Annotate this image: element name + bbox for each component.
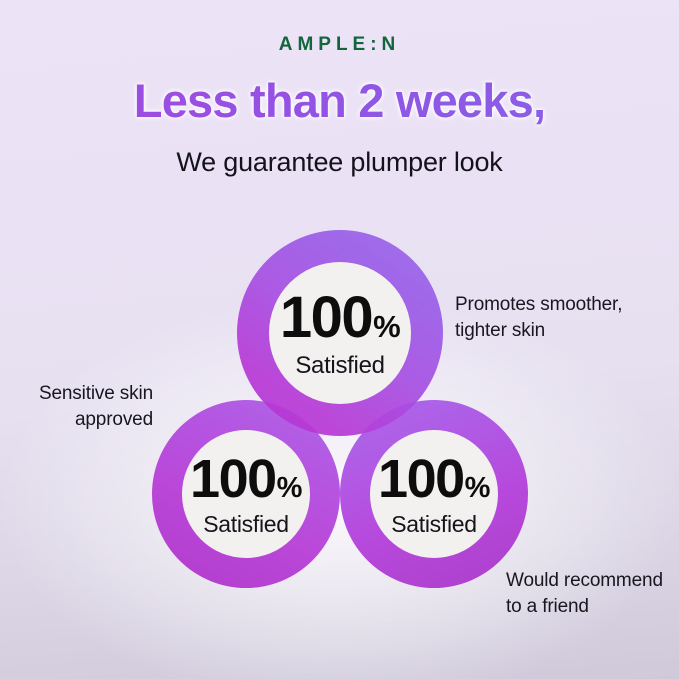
- stat-label: Satisfied: [203, 513, 289, 536]
- caption-promotes-smoother-tighter-skin: Promotes smoother, tighter skin: [455, 292, 670, 343]
- stat-disc-bottom-left: 100 % Satisfied: [182, 430, 310, 558]
- stat-ring-top: 100 % Satisfied: [237, 230, 443, 436]
- percent-symbol: %: [373, 311, 400, 342]
- stat-disc-top: 100 % Satisfied: [269, 262, 411, 404]
- stat-value: 100: [280, 289, 372, 347]
- stat-label: Satisfied: [391, 513, 477, 536]
- caption-would-recommend-to-a-friend: Would recommend to a friend: [506, 568, 676, 619]
- stat-disc-bottom-right: 100 % Satisfied: [370, 430, 498, 558]
- stat-value-line: 100 %: [378, 452, 490, 506]
- stat-value: 100: [378, 452, 464, 506]
- percent-symbol: %: [277, 474, 302, 503]
- stat-value: 100: [190, 452, 276, 506]
- caption-sensitive-skin-approved: Sensitive skin approved: [8, 381, 153, 432]
- stat-value-line: 100 %: [280, 289, 400, 347]
- promo-poster: AMPLE:N Less than 2 weeks, We guarantee …: [0, 0, 679, 679]
- stat-value-line: 100 %: [190, 452, 302, 506]
- percent-symbol: %: [465, 474, 490, 503]
- stat-label: Satisfied: [295, 354, 384, 378]
